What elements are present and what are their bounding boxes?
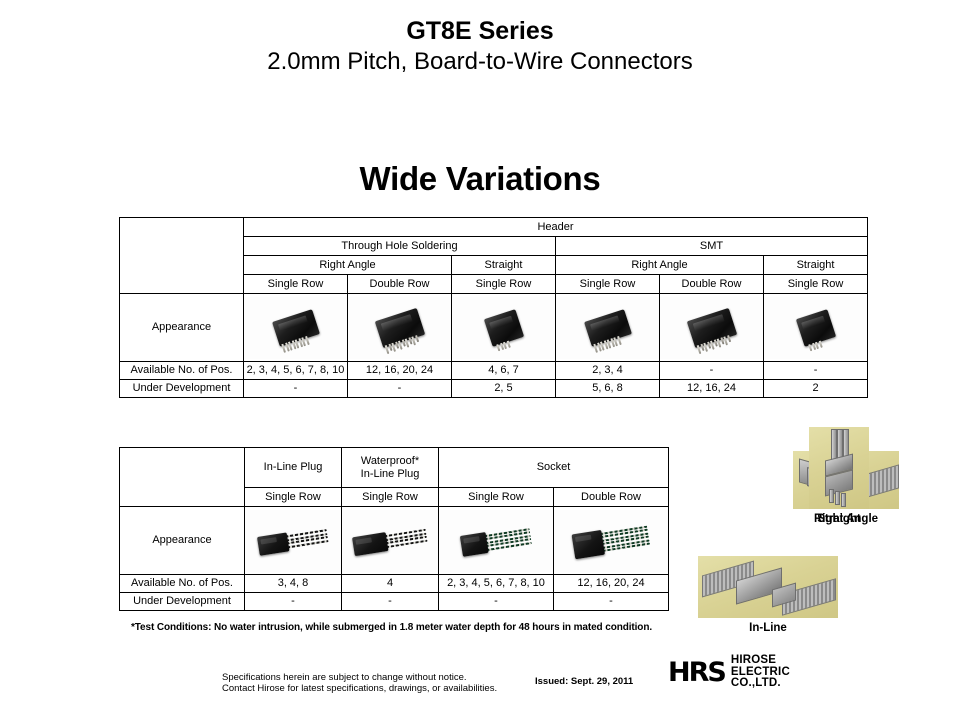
table-row-appearance: Appearance [120, 294, 868, 362]
disclaimer-line-2: Contact Hirose for latest specifications… [222, 683, 497, 694]
under-dev-value: 2 [764, 380, 868, 398]
page-subtitle: 2.0mm Pitch, Board-to-Wire Connectors [0, 46, 960, 78]
row-label-under-development: Under Development [120, 380, 244, 398]
group-in-line-plug: In-Line Plug [245, 448, 342, 488]
connector-illustration [352, 525, 428, 555]
slide-root: GT8E Series 2.0mm Pitch, Board-to-Wire C… [0, 0, 960, 720]
appearance-photo-cell [554, 507, 669, 575]
appearance-photo-cell [348, 294, 452, 362]
table-row-under-development: Under Development - - 2, 5 5, 6, 8 12, 1… [120, 380, 868, 398]
available-value: 2, 3, 4, 5, 6, 7, 8, 10 [439, 575, 554, 593]
available-value: 4 [342, 575, 439, 593]
connector-illustration [686, 307, 736, 347]
available-value: 4, 6, 7 [452, 362, 556, 380]
plug-photo-waterproof-single [342, 510, 438, 572]
mated-pair-in-line-image [698, 556, 838, 618]
connector-illustration [584, 309, 632, 347]
table-row-available: Available No. of Pos. 3, 4, 8 4 2, 3, 4,… [120, 575, 669, 593]
table-row: In-Line Plug Waterproof* In-Line Plug So… [120, 448, 669, 488]
group-waterproof-in-line-plug: Waterproof* In-Line Plug [342, 448, 439, 488]
header-photo-smt-ra-single [556, 297, 659, 359]
appearance-photo-cell [452, 294, 556, 362]
plug-photo-in-line-single [245, 510, 341, 572]
table-row-under-development: Under Development - - - - [120, 593, 669, 611]
under-dev-value: - [554, 593, 669, 611]
rowtype-col-6: Single Row [764, 275, 868, 294]
group-header-header: Header [244, 218, 868, 237]
row-label-appearance: Appearance [120, 507, 245, 575]
page-title: GT8E Series [0, 16, 960, 46]
under-dev-value: - [245, 593, 342, 611]
connector-illustration [483, 309, 523, 347]
row-label-available-positions: Available No. of Pos. [120, 362, 244, 380]
under-dev-value: 2, 5 [452, 380, 556, 398]
logo-line-1: HIROSE [731, 655, 790, 667]
rowtype-col-1: Single Row [245, 488, 342, 507]
angle-smt-right: Right Angle [556, 256, 764, 275]
available-value: 2, 3, 4 [556, 362, 660, 380]
connector-illustration [795, 309, 835, 347]
angle-th-right: Right Angle [244, 256, 452, 275]
under-dev-value: - [439, 593, 554, 611]
angle-th-straight: Straight [452, 256, 556, 275]
logo-line-3: CO.,LTD. [731, 678, 790, 690]
under-dev-value: 12, 16, 24 [660, 380, 764, 398]
appearance-photo-cell [660, 294, 764, 362]
appearance-photo-cell [244, 294, 348, 362]
disclaimer-line-1: Specifications herein are subject to cha… [222, 672, 497, 683]
angle-smt-straight: Straight [764, 256, 868, 275]
plug-socket-variations-table: In-Line Plug Waterproof* In-Line Plug So… [119, 447, 668, 611]
connector-illustration [272, 309, 320, 347]
table-row-appearance: Appearance [120, 507, 669, 575]
rowtype-col-1: Single Row [244, 275, 348, 294]
table-row: Header [120, 218, 868, 237]
under-dev-value: - [244, 380, 348, 398]
available-value: - [764, 362, 868, 380]
header-photo-th-straight-single [452, 297, 555, 359]
rowtype-col-5: Double Row [660, 275, 764, 294]
appearance-photo-cell [764, 294, 868, 362]
under-dev-value: 5, 6, 8 [556, 380, 660, 398]
issued-date: Issued: Sept. 29, 2011 [535, 676, 633, 687]
mount-type-smt: SMT [556, 237, 868, 256]
socket-photo-double-row [554, 510, 668, 572]
row-label-appearance: Appearance [120, 294, 244, 362]
connector-illustration [460, 525, 532, 557]
hrs-logo-mark: HRS [668, 657, 725, 688]
waterproof-footnote: *Test Conditions: No water intrusion, wh… [131, 622, 652, 633]
illustration-caption: Straight [809, 513, 869, 525]
mated-pair-straight-image [809, 427, 869, 509]
hirose-logo: HRS HIROSE ELECTRIC CO.,LTD. [668, 655, 790, 690]
header-photo-th-ra-double [348, 297, 451, 359]
available-value: 2, 3, 4, 5, 6, 7, 8, 10 [244, 362, 348, 380]
under-dev-value: - [348, 380, 452, 398]
available-value: 3, 4, 8 [245, 575, 342, 593]
corner-spacer [120, 448, 245, 507]
rowtype-col-2: Double Row [348, 275, 452, 294]
illustration-in-line: In-Line [698, 556, 838, 634]
corner-spacer [120, 218, 244, 294]
rowtype-col-2: Single Row [342, 488, 439, 507]
header-variations-table: Header Through Hole Soldering SMT Right … [119, 217, 867, 398]
under-dev-value: - [342, 593, 439, 611]
header-photo-th-ra-single [244, 297, 347, 359]
table-row-available: Available No. of Pos. 2, 3, 4, 5, 6, 7, … [120, 362, 868, 380]
header-photo-smt-straight-single [764, 297, 867, 359]
illustration-caption: In-Line [698, 622, 838, 634]
connector-illustration [374, 307, 424, 347]
rowtype-col-4: Double Row [554, 488, 669, 507]
connector-illustration [257, 526, 329, 556]
available-value: - [660, 362, 764, 380]
illustration-straight: Straight [809, 427, 869, 525]
available-value: 12, 16, 20, 24 [554, 575, 669, 593]
row-label-under-development: Under Development [120, 593, 245, 611]
group-socket: Socket [439, 448, 669, 488]
appearance-photo-cell [245, 507, 342, 575]
mount-type-through-hole: Through Hole Soldering [244, 237, 556, 256]
logo-company-name: HIROSE ELECTRIC CO.,LTD. [731, 655, 790, 690]
appearance-photo-cell [556, 294, 660, 362]
rowtype-col-4: Single Row [556, 275, 660, 294]
row-label-available-positions: Available No. of Pos. [120, 575, 245, 593]
rowtype-col-3: Single Row [452, 275, 556, 294]
socket-photo-single-row [439, 510, 553, 572]
rowtype-col-3: Single Row [439, 488, 554, 507]
appearance-photo-cell [439, 507, 554, 575]
header-photo-smt-ra-double [660, 297, 763, 359]
connector-illustration [572, 522, 651, 559]
title-block: GT8E Series 2.0mm Pitch, Board-to-Wire C… [0, 16, 960, 78]
footer-disclaimer: Specifications herein are subject to cha… [222, 672, 497, 694]
appearance-photo-cell [342, 507, 439, 575]
available-value: 12, 16, 20, 24 [348, 362, 452, 380]
section-heading: Wide Variations [0, 160, 960, 198]
